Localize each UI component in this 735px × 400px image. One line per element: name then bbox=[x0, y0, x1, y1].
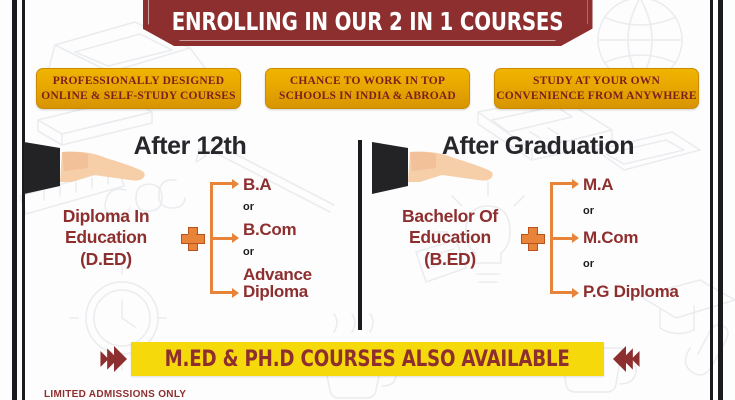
base-program-b-ed-line1: Bachelor Of bbox=[384, 206, 516, 227]
arrow-head-icon-3 bbox=[232, 288, 239, 298]
option-bcom: B.Com bbox=[243, 220, 312, 239]
plus-icon-center bbox=[188, 234, 196, 242]
base-program-b-ed: Bachelor Of Education (B.ED) bbox=[384, 206, 516, 270]
bracket-arrows-icon bbox=[550, 182, 576, 294]
base-program-d-ed: Diploma In Education (D.ED) bbox=[36, 206, 176, 270]
bracket-arm-1 bbox=[210, 182, 234, 185]
chevrons-left-group bbox=[98, 346, 122, 372]
arrow-head-icon-2 bbox=[572, 233, 579, 243]
arrow-head-icon-2 bbox=[232, 233, 239, 243]
option-separator-1: or bbox=[583, 206, 679, 217]
bracket-arm-2 bbox=[210, 237, 234, 240]
bracket-arm-3 bbox=[550, 291, 574, 294]
footer-banner-text: M.ED & PH.D COURSES ALSO AVAILABLE bbox=[165, 347, 570, 372]
option-separator-1: or bbox=[243, 202, 312, 213]
option-list-after-graduation: M.A or M.Com or P.G Diploma bbox=[583, 175, 679, 301]
option-pg-diploma: P.G Diploma bbox=[583, 282, 679, 301]
open-hand-illustration-right bbox=[350, 138, 500, 198]
option-advance-diploma: Advance Diploma bbox=[243, 266, 312, 301]
chevron-right-icon-3 bbox=[114, 346, 127, 372]
arrow-head-icon-3 bbox=[572, 288, 579, 298]
option-advance-diploma-line2: Diploma bbox=[243, 283, 312, 301]
infographic-poster: ENROLLING IN OUR 2 IN 1 COURSES PROFESSI… bbox=[0, 0, 735, 400]
arrow-head-icon-1 bbox=[232, 179, 239, 189]
option-ba: B.A bbox=[243, 175, 312, 194]
chevron-left-icon-3 bbox=[631, 351, 639, 367]
feature-badge-3-line2: CONVENIENCE FROM ANYWHERE bbox=[496, 89, 697, 104]
footer-banner: M.ED & PH.D COURSES ALSO AVAILABLE bbox=[131, 342, 603, 376]
option-advance-diploma-line1: Advance bbox=[243, 266, 312, 284]
options-bracket-after-12th: B.A or B.Com or Advance Diploma bbox=[210, 175, 312, 301]
feature-badge-3-line1: STUDY AT YOUR OWN bbox=[533, 74, 660, 89]
feature-badge-1-line2: ONLINE & SELF-STUDY COURSES bbox=[41, 89, 235, 104]
footer-banner-row: M.ED & PH.D COURSES ALSO AVAILABLE bbox=[0, 338, 735, 380]
arrow-head-icon-1 bbox=[572, 179, 579, 189]
bracket-arm-3 bbox=[210, 291, 234, 294]
bracket-arm-2 bbox=[550, 237, 574, 240]
limited-admissions-note: LIMITED ADMISSIONS ONLY bbox=[44, 389, 186, 400]
open-hand-illustration-left bbox=[2, 138, 152, 198]
option-ma: M.A bbox=[583, 175, 679, 194]
feature-badge-2-line1: CHANCE TO WORK IN TOP bbox=[290, 74, 445, 89]
feature-badge-2: CHANCE TO WORK IN TOP SCHOOLS IN INDIA &… bbox=[265, 68, 470, 109]
base-program-b-ed-line3: (B.ED) bbox=[384, 249, 516, 270]
top-banner-title: ENROLLING IN OUR 2 IN 1 COURSES bbox=[172, 7, 564, 36]
plus-icon bbox=[521, 227, 543, 249]
feature-badge-1-line1: PROFESSIONALLY DESIGNED bbox=[53, 74, 225, 89]
feature-badge-3: STUDY AT YOUR OWN CONVENIENCE FROM ANYWH… bbox=[494, 68, 699, 109]
option-separator-2: or bbox=[583, 259, 679, 270]
plus-icon-center bbox=[528, 234, 536, 242]
top-banner: ENROLLING IN OUR 2 IN 1 COURSES bbox=[143, 0, 593, 46]
option-separator-2: or bbox=[243, 247, 312, 258]
base-program-d-ed-line2: Education bbox=[36, 227, 176, 248]
feature-badge-list: PROFESSIONALLY DESIGNED ONLINE & SELF-ST… bbox=[36, 68, 699, 109]
option-mcom: M.Com bbox=[583, 228, 679, 247]
chevrons-right-group bbox=[613, 346, 637, 372]
options-bracket-after-graduation: M.A or M.Com or P.G Diploma bbox=[550, 175, 679, 301]
base-program-d-ed-line3: (D.ED) bbox=[36, 249, 176, 270]
plus-icon bbox=[181, 227, 203, 249]
base-program-d-ed-line1: Diploma In bbox=[36, 206, 176, 227]
bracket-arm-1 bbox=[550, 182, 574, 185]
option-list-after-12th: B.A or B.Com or Advance Diploma bbox=[243, 175, 312, 301]
feature-badge-1: PROFESSIONALLY DESIGNED ONLINE & SELF-ST… bbox=[36, 68, 241, 109]
base-program-b-ed-line2: Education bbox=[384, 227, 516, 248]
bracket-arrows-icon bbox=[210, 182, 236, 294]
feature-badge-2-line2: SCHOOLS IN INDIA & ABROAD bbox=[279, 89, 456, 104]
